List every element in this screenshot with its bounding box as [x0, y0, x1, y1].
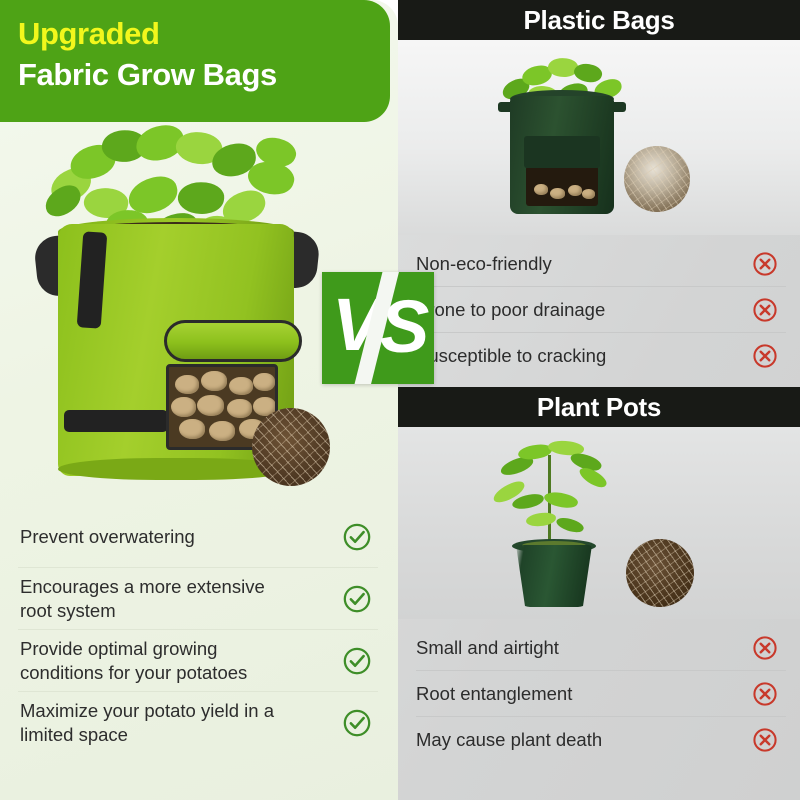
benefit-label: Provide optimal growing conditions for y…: [20, 637, 298, 685]
check-circle-icon: [342, 646, 372, 676]
drawback-label: Root entanglement: [416, 683, 572, 705]
cross-circle-icon: [752, 343, 778, 369]
drawback-row: May cause plant death: [416, 717, 786, 763]
cross-circle-icon: [752, 635, 778, 661]
plastic-bag-image: [398, 40, 800, 235]
alternatives-panel: Plastic Bags: [398, 0, 800, 800]
cross-circle-icon: [752, 681, 778, 707]
drawback-row: Prone to poor drainage: [416, 287, 786, 333]
header-line-product: Fabric Grow Bags: [18, 54, 390, 96]
versus-badge: V S: [322, 272, 434, 384]
plastic-bag-flap: [524, 136, 600, 168]
bag-rolled-flap: [164, 320, 302, 362]
versus-letter-s: S: [380, 290, 429, 364]
drawback-label: Non-eco-friendly: [416, 253, 552, 275]
drawback-label: Susceptible to cracking: [416, 345, 606, 367]
drawback-row: Non-eco-friendly: [416, 241, 786, 287]
benefit-label: Encourages a more extensive root system: [20, 575, 298, 623]
plant-pots-title: Plant Pots: [537, 392, 661, 423]
check-circle-icon: [342, 522, 372, 552]
root-ball-inset-icon: [252, 408, 330, 486]
cross-circle-icon: [752, 297, 778, 323]
product-comparison-poster: Upgraded Fabric Grow Bags: [0, 0, 800, 800]
plastic-bag-window: [526, 166, 598, 206]
benefit-label: Maximize your potato yield in a limited …: [20, 699, 298, 747]
plant-pots-drawbacks-list: Small and airtight Root entanglement May…: [398, 619, 800, 763]
plastic-bags-title: Plastic Bags: [523, 5, 674, 36]
plant-pots-banner: Plant Pots: [398, 387, 800, 427]
check-circle-icon: [342, 584, 372, 614]
drawback-row: Small and airtight: [416, 625, 786, 671]
cross-circle-icon: [752, 727, 778, 753]
check-circle-icon: [342, 708, 372, 738]
plastic-bags-banner: Plastic Bags: [398, 0, 800, 40]
drawback-row: Root entanglement: [416, 671, 786, 717]
root-bound-inset-icon: [624, 146, 690, 212]
bag-strap-bottom: [64, 410, 168, 432]
drawback-label: May cause plant death: [416, 729, 602, 751]
fabric-grow-bags-panel: Upgraded Fabric Grow Bags: [0, 0, 398, 800]
benefits-list: Prevent overwatering Encourages a more e…: [18, 506, 378, 754]
left-header-banner: Upgraded Fabric Grow Bags: [0, 0, 390, 122]
benefit-row: Encourages a more extensive root system: [18, 568, 378, 630]
benefit-row: Provide optimal growing conditions for y…: [18, 630, 378, 692]
plastic-bags-drawbacks-list: Non-eco-friendly Prone to poor drainage …: [398, 235, 800, 379]
drawback-label: Small and airtight: [416, 637, 559, 659]
benefit-row: Maximize your potato yield in a limited …: [18, 692, 378, 754]
root-bound-inset-icon: [626, 539, 694, 607]
fabric-grow-bag-image: [16, 124, 346, 494]
tomato-seedling: [482, 437, 632, 552]
cross-circle-icon: [752, 251, 778, 277]
drawback-row: Susceptible to cracking: [416, 333, 786, 379]
drawback-label: Prone to poor drainage: [416, 299, 605, 321]
header-line-upgraded: Upgraded: [18, 14, 390, 54]
plant-pot-image: [398, 427, 800, 619]
benefit-row: Prevent overwatering: [18, 506, 378, 568]
pot-body: [516, 545, 592, 607]
benefit-label: Prevent overwatering: [20, 525, 195, 549]
